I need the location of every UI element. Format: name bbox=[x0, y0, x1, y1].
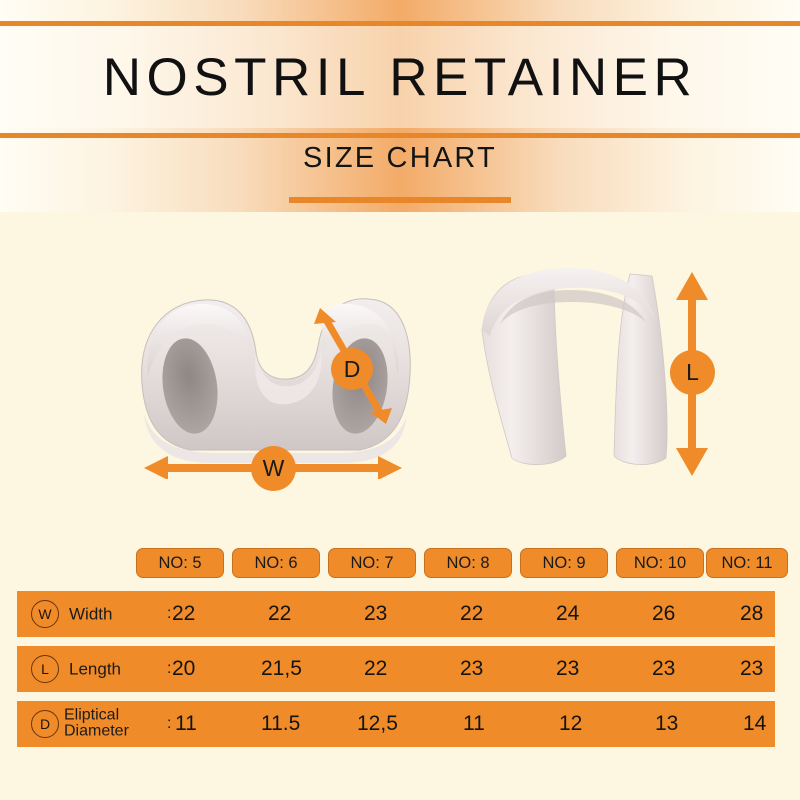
size-chart-table: NO: 5 NO: 6 NO: 7 NO: 8 NO: 9 NO: 10 NO:… bbox=[0, 542, 800, 756]
length-row-separator: : bbox=[167, 660, 171, 678]
diameter-row-label-line2: Diameter bbox=[64, 724, 160, 740]
length-label-text: L bbox=[686, 359, 699, 386]
cell-width-no-11: 28 bbox=[740, 602, 763, 626]
diameter-row-label-line1: Eliptical bbox=[64, 708, 160, 724]
column-header-no-8: NO: 8 bbox=[424, 548, 512, 578]
column-header-label: NO: 6 bbox=[254, 554, 297, 573]
cell-length-no-6: 21,5 bbox=[261, 657, 302, 681]
column-header-label: NO: 10 bbox=[634, 554, 686, 573]
cell-length-no-10: 23 bbox=[652, 657, 675, 681]
column-header-no-7: NO: 7 bbox=[328, 548, 416, 578]
width-row-badge: W bbox=[31, 600, 59, 628]
cell-length-no-9: 23 bbox=[556, 657, 579, 681]
cell-width-no-5: 22 bbox=[172, 602, 195, 626]
cell-width-no-6: 22 bbox=[268, 602, 291, 626]
width-row-badge-letter: W bbox=[38, 606, 51, 622]
diameter-row-badge-letter: D bbox=[40, 716, 50, 732]
table-row-length: L Length : 20 21,5 22 23 23 23 23 bbox=[17, 646, 775, 692]
cell-width-no-7: 23 bbox=[364, 602, 387, 626]
diameter-row-separator: : bbox=[167, 715, 171, 733]
length-row-label: Length bbox=[69, 660, 165, 677]
column-header-no-9: NO: 9 bbox=[520, 548, 608, 578]
length-label-badge: L bbox=[670, 350, 715, 395]
cell-length-no-8: 23 bbox=[460, 657, 483, 681]
page-header: NOSTRIL RETAINER SIZE CHART bbox=[0, 0, 800, 212]
cell-diameter-no-7: 12,5 bbox=[357, 712, 398, 736]
column-header-no-6: NO: 6 bbox=[232, 548, 320, 578]
subtitle-underline bbox=[289, 197, 511, 203]
column-header-label: NO: 11 bbox=[721, 554, 772, 573]
column-header-no-10: NO: 10 bbox=[616, 548, 704, 578]
diameter-row-label: Eliptical Diameter bbox=[64, 708, 160, 741]
cell-width-no-8: 22 bbox=[460, 602, 483, 626]
column-header-label: NO: 7 bbox=[350, 554, 393, 573]
cell-length-no-11: 23 bbox=[740, 657, 763, 681]
table-row-eliptical-diameter: D Eliptical Diameter : 11 11.5 12,5 11 1… bbox=[17, 701, 775, 747]
header-rule-bottom bbox=[0, 133, 800, 138]
width-label-text: W bbox=[263, 455, 285, 482]
cell-diameter-no-6: 11.5 bbox=[261, 712, 300, 736]
column-header-label: NO: 5 bbox=[158, 554, 201, 573]
subtitle-wrap: SIZE CHART bbox=[0, 142, 800, 175]
cell-diameter-no-8: 11 bbox=[463, 712, 485, 736]
cell-diameter-no-9: 12 bbox=[559, 712, 582, 736]
width-row-label: Width bbox=[69, 605, 165, 622]
page-subtitle: SIZE CHART bbox=[303, 142, 497, 175]
cell-diameter-no-10: 13 bbox=[655, 712, 678, 736]
column-header-no-5: NO: 5 bbox=[136, 548, 224, 578]
diameter-row-badge: D bbox=[31, 710, 59, 738]
diameter-label-text: D bbox=[344, 356, 361, 383]
width-row-separator: : bbox=[167, 605, 171, 623]
column-header-label: NO: 8 bbox=[446, 554, 489, 573]
illustration-area: D W bbox=[0, 212, 800, 542]
product-illustration-side: L bbox=[470, 260, 730, 485]
page-title: NOSTRIL RETAINER bbox=[103, 47, 698, 108]
cell-width-no-9: 24 bbox=[556, 602, 579, 626]
cell-diameter-no-11: 14 bbox=[743, 712, 766, 736]
cell-width-no-10: 26 bbox=[652, 602, 675, 626]
cell-diameter-no-5: 11 bbox=[175, 712, 197, 736]
product-illustration-front: D W bbox=[128, 264, 418, 479]
title-band: NOSTRIL RETAINER bbox=[0, 26, 800, 128]
table-header-row: NO: 5 NO: 6 NO: 7 NO: 8 NO: 9 NO: 10 NO:… bbox=[0, 542, 800, 582]
cell-length-no-5: 20 bbox=[172, 657, 195, 681]
width-label-badge: W bbox=[251, 446, 296, 491]
length-row-badge: L bbox=[31, 655, 59, 683]
column-header-no-11: NO: 11 bbox=[706, 548, 788, 578]
length-row-badge-letter: L bbox=[41, 661, 49, 677]
diameter-label-badge: D bbox=[331, 348, 373, 390]
cell-length-no-7: 22 bbox=[364, 657, 387, 681]
column-header-label: NO: 9 bbox=[542, 554, 585, 573]
table-row-width: W Width : 22 22 23 22 24 26 28 bbox=[17, 591, 775, 637]
